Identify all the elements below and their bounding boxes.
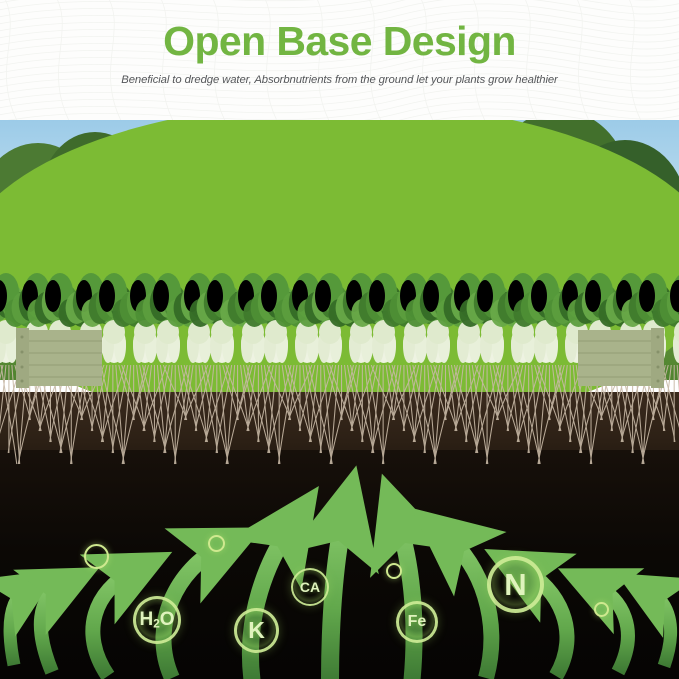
nutrient-badge-fe-label: Fe (408, 614, 427, 630)
particle-ring-2 (208, 535, 225, 552)
nutrient-badge-n: N (487, 556, 544, 613)
nutrient-badge-k: K (234, 608, 279, 653)
nutrient-arrow-6 (330, 518, 344, 679)
nutrient-arrow-5 (250, 528, 290, 679)
nutrient-arrow-2 (41, 586, 62, 672)
nutrient-arrow-1 (10, 590, 26, 665)
header-banner: Open Base Design Beneficial to dredge wa… (0, 0, 679, 120)
page-subtitle: Beneficial to dredge water, Absorbnutrie… (0, 74, 679, 86)
nutrient-flow-arrows (0, 120, 679, 679)
particle-ring-3 (386, 563, 402, 579)
nutrient-badge-h2o-label: H2O (139, 610, 174, 630)
nutrient-badge-fe: Fe (396, 601, 438, 643)
particle-ring-4 (594, 602, 609, 617)
nutrient-arrow-11 (650, 592, 671, 666)
page-title: Open Base Design (0, 21, 679, 62)
nutrient-badge-n-label: N (504, 569, 526, 600)
nutrient-badge-h2o: H2O (133, 596, 181, 644)
nutrient-arrow-3 (93, 572, 132, 676)
nutrient-arrow-10 (596, 586, 628, 672)
particle-ring-1 (84, 544, 109, 569)
nutrient-badge-ca-label: CA (300, 580, 320, 594)
nutrient-badge-k-label: K (248, 619, 265, 642)
product-feature-image: H2OKCAFeN Open Base Design Beneficial to… (0, 0, 679, 679)
nutrient-badge-ca: CA (291, 568, 329, 606)
nutrient-arrow-8 (448, 538, 491, 678)
